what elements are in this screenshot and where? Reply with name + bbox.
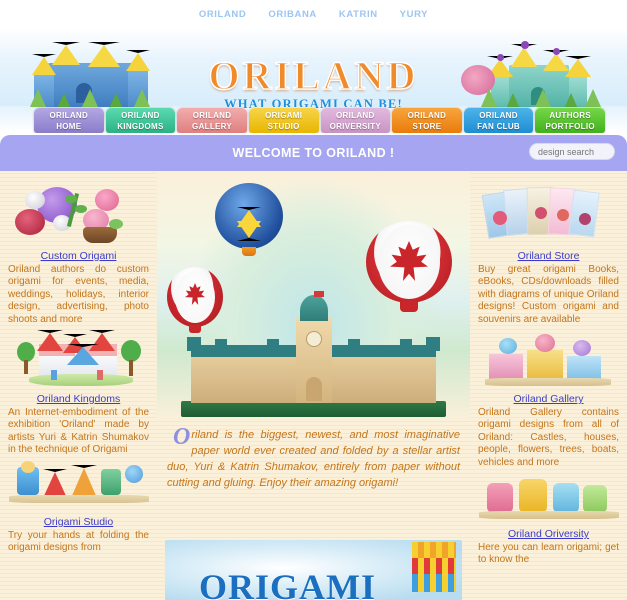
design-search-input[interactable] (529, 143, 615, 160)
oriland-gallery-thumbnail[interactable] (479, 330, 619, 388)
right-column: Oriland Store Buy great origami Books, e… (470, 171, 627, 600)
nav-oriland-kingdoms[interactable]: ORILAND KINGDOMS (106, 107, 176, 133)
nav-label-line1: ORILAND (106, 111, 176, 122)
promo-oriland-kingdoms: Oriland Kingdoms An Internet-embodiment … (6, 330, 151, 457)
top-link-oribana[interactable]: ORIBANA (268, 9, 317, 20)
site-header: ORILAND WHAT ORIGAMI CAN BE! ORILAND HOM… (0, 28, 627, 133)
nav-label-line1: ORILAND (464, 111, 534, 122)
top-link-katrin[interactable]: KATRIN (339, 9, 378, 20)
promo-oriland-oriversity: Oriland Oriversity Here you can learn or… (476, 473, 621, 567)
link-oriland-gallery[interactable]: Oriland Gallery (513, 393, 583, 405)
intro-paragraph: Oriland is the biggest, newest, and most… (157, 421, 470, 491)
nav-oriland-home[interactable]: ORILAND HOME (34, 107, 104, 133)
nav-authors-portfolio[interactable]: AUTHORS PORTFOLIO (535, 107, 605, 133)
nav-label-line2: FAN CLUB (464, 122, 534, 133)
promo-custom-origami: Custom Origami Oriland authors do custom… (6, 179, 151, 326)
intro-text: riland is the biggest, newest, and most … (167, 429, 460, 489)
oriland-store-thumbnail[interactable] (479, 179, 619, 245)
origami-banner[interactable]: ORIGAMI (165, 540, 462, 600)
nav-oriland-oriversity[interactable]: ORILAND ORIVERSITY (321, 107, 391, 133)
nav-oriland-fan-club[interactable]: ORILAND FAN CLUB (464, 107, 534, 133)
custom-origami-thumbnail[interactable] (9, 179, 149, 245)
left-column: Custom Origami Oriland authors do custom… (0, 171, 157, 600)
nav-oriland-store[interactable]: ORILAND STORE (392, 107, 462, 133)
welcome-bar: WELCOME TO ORILAND ! (0, 135, 627, 171)
nav-label-line2: ORIVERSITY (321, 122, 391, 133)
nav-label-line1: ORILAND (177, 111, 247, 122)
nav-label-line1: ORILAND (321, 111, 391, 122)
hero-origami-parliament (157, 171, 470, 421)
link-oriland-kingdoms[interactable]: Oriland Kingdoms (37, 393, 120, 405)
page-content: Custom Origami Oriland authors do custom… (0, 171, 627, 600)
nav-origami-studio[interactable]: ORIGAMI STUDIO (249, 107, 319, 133)
oriland-oriversity-thumbnail[interactable] (479, 473, 619, 523)
top-link-yury[interactable]: YURY (400, 9, 428, 20)
nav-label-line2: PORTFOLIO (535, 122, 605, 133)
text-oriland-gallery: Oriland Gallery contains origami designs… (476, 407, 621, 469)
text-oriland-kingdoms: An Internet-embodiment of the exhibition… (6, 407, 151, 457)
oriland-kingdoms-thumbnail[interactable] (9, 330, 149, 388)
nav-label-line1: ORILAND (392, 111, 462, 122)
nav-label-line1: ORIGAMI (249, 111, 319, 122)
promo-oriland-gallery: Oriland Gallery Oriland Gallery contains… (476, 330, 621, 469)
top-link-oriland[interactable]: ORILAND (199, 9, 246, 20)
welcome-title: WELCOME TO ORILAND ! (233, 146, 395, 160)
text-origami-studio: Try your hands at folding the origami de… (6, 530, 151, 555)
link-oriland-store[interactable]: Oriland Store (518, 250, 580, 262)
nav-label-line2: HOME (34, 122, 104, 133)
nav-label-line1: ORILAND (34, 111, 104, 122)
link-custom-origami[interactable]: Custom Origami (41, 250, 117, 262)
nav-label-line2: KINGDOMS (106, 122, 176, 133)
text-custom-origami: Oriland authors do custom origami for ev… (6, 264, 151, 326)
nav-label-line1: AUTHORS (535, 111, 605, 122)
center-column: Oriland is the biggest, newest, and most… (157, 171, 470, 600)
promo-oriland-store: Oriland Store Buy great origami Books, e… (476, 179, 621, 326)
nav-label-line2: GALLERY (177, 122, 247, 133)
nav-oriland-gallery[interactable]: ORILAND GALLERY (177, 107, 247, 133)
text-oriland-store: Buy great origami Books, eBooks, CDs/dow… (476, 264, 621, 326)
nav-label-line2: STORE (392, 122, 462, 133)
link-origami-studio[interactable]: Origami Studio (44, 516, 113, 528)
parliament-building-icon (181, 295, 446, 417)
origami-studio-thumbnail[interactable] (9, 461, 149, 511)
origami-banner-title: ORIGAMI (199, 566, 376, 600)
link-oriland-oriversity[interactable]: Oriland Oriversity (508, 528, 589, 540)
promo-origami-studio: Origami Studio Try your hands at folding… (6, 461, 151, 555)
top-nav: ORILAND ORIBANA KATRIN YURY (0, 0, 627, 28)
text-oriland-oriversity: Here you can learn origami; get to know … (476, 542, 621, 567)
paper-fan-icon (412, 542, 456, 600)
balloon-blue-star-icon (215, 183, 283, 261)
main-nav: ORILAND HOME ORILAND KINGDOMS ORILAND GA… (34, 107, 605, 133)
nav-label-line2: STUDIO (249, 122, 319, 133)
intro-dropcap: O (167, 427, 191, 447)
